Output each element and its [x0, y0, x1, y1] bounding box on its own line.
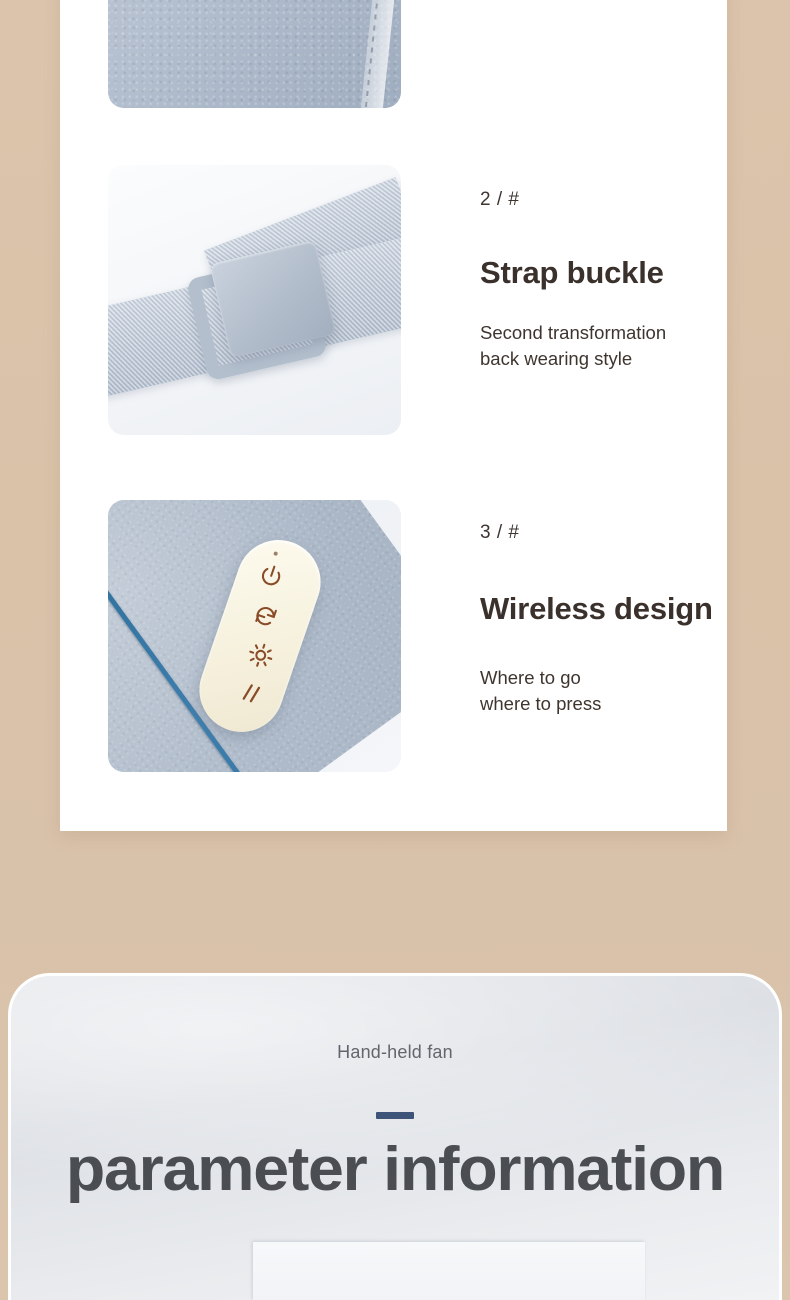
- fan-speed-icon[interactable]: [245, 639, 278, 672]
- oscillation-icon[interactable]: [250, 599, 283, 632]
- feature-index-label: 3 / #: [480, 523, 728, 542]
- parameter-subtitle: Hand-held fan: [11, 1042, 779, 1063]
- feature-card: Soft and skin friendly 2 / # Strap buckl…: [60, 0, 727, 831]
- feature-row: 2 / # Strap buckle Second transformation…: [108, 165, 728, 435]
- feature-description: Second transformation back wearing style: [480, 320, 728, 371]
- feature-description: Where to go where to press: [480, 665, 728, 716]
- feature-text-block: 3 / # Wireless design Where to go where …: [401, 500, 728, 716]
- feature-text-block: 2 / # Strap buckle Second transformation…: [401, 165, 728, 371]
- level-indicator-icon[interactable]: [236, 677, 269, 710]
- feature-row: 3 / # Wireless design Where to go where …: [108, 500, 728, 772]
- product-photo-placeholder: [253, 1242, 645, 1300]
- power-icon[interactable]: [255, 560, 288, 593]
- accent-dash-divider: [376, 1112, 414, 1119]
- feature-row: Soft and skin friendly: [108, 0, 728, 108]
- feature-title: Strap buckle: [480, 256, 728, 290]
- feature-title: Wireless design: [480, 592, 728, 626]
- strap-buckle-photo[interactable]: [108, 165, 401, 435]
- led-indicator-icon: [273, 551, 278, 556]
- parameter-title: parameter information: [8, 1136, 782, 1204]
- leather-surface: [108, 0, 401, 108]
- grey-leather-texture-photo[interactable]: [108, 0, 401, 108]
- feature-index-label: 2 / #: [480, 190, 728, 209]
- control-panel-photo[interactable]: [108, 500, 401, 772]
